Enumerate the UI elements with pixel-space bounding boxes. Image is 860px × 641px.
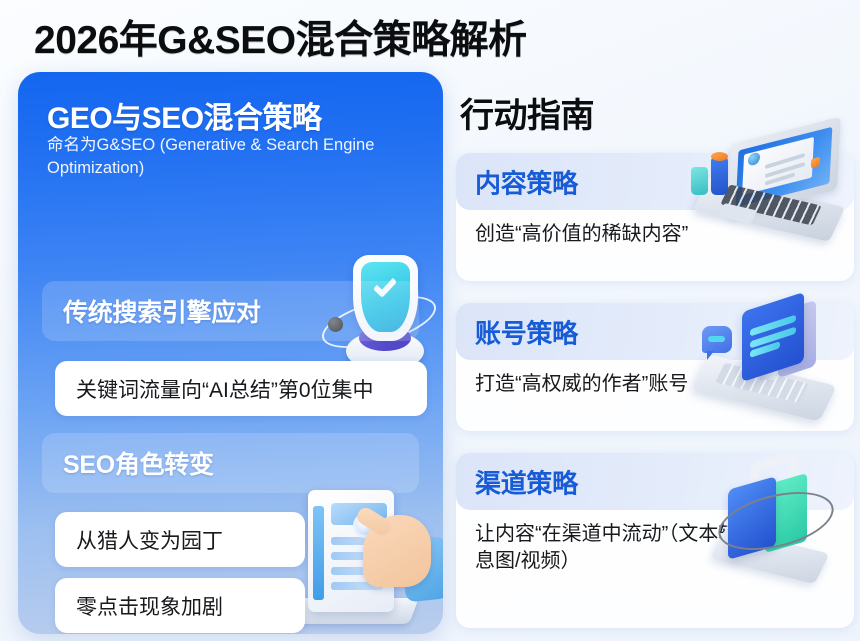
left-section-band-label-1: SEO角色转变 [63,445,214,481]
left-section-band-label-0: 传统搜索引擎应对 [63,293,261,329]
left-section-item-label: 关键词流量向“AI总结”第0位集中 [76,374,374,404]
left-section-item-1-1[interactable]: 零点击现象加剧 [55,578,305,633]
server-hand-click-icon [290,490,443,634]
action-card-heading: 渠道策略 [475,463,578,500]
left-panel-title: GEO与SEO混合策略 [47,93,322,137]
action-card-heading: 内容策略 [475,163,578,200]
server-side-rail [313,506,324,600]
left-panel-geo-seo-strategy: GEO与SEO混合策略 命名为G&SEO (Generative & Searc… [18,72,443,634]
left-section-item-label: 从猎人变为园丁 [76,525,223,555]
blue-cylinder-icon [711,157,728,195]
teal-cylinder-icon [691,167,708,195]
chat-bubble-line [708,336,725,342]
desktop-monitor-icon [700,300,860,418]
laptop-icon [685,128,857,238]
left-panel-subtitle: 命名为G&SEO (Generative & Search Engine Opt… [47,134,429,181]
action-card-heading: 账号策略 [475,313,578,350]
orange-cylinder-cap-icon [711,152,728,161]
page-title: 2026年G&SEO混合策略解析 [34,9,527,65]
right-panel-title: 行动指南 [460,88,594,137]
left-section-item-label: 零点击现象加剧 [76,591,223,621]
left-section-item-0-0[interactable]: 关键词流量向“AI总结”第0位集中 [55,361,427,416]
left-section-band-1: SEO角色转变 [42,433,419,493]
left-section-band-0: 传统搜索引擎应对 [42,281,419,341]
left-section-item-1-0[interactable]: 从猎人变为园丁 [55,512,305,567]
briefcase-icon [710,455,855,585]
